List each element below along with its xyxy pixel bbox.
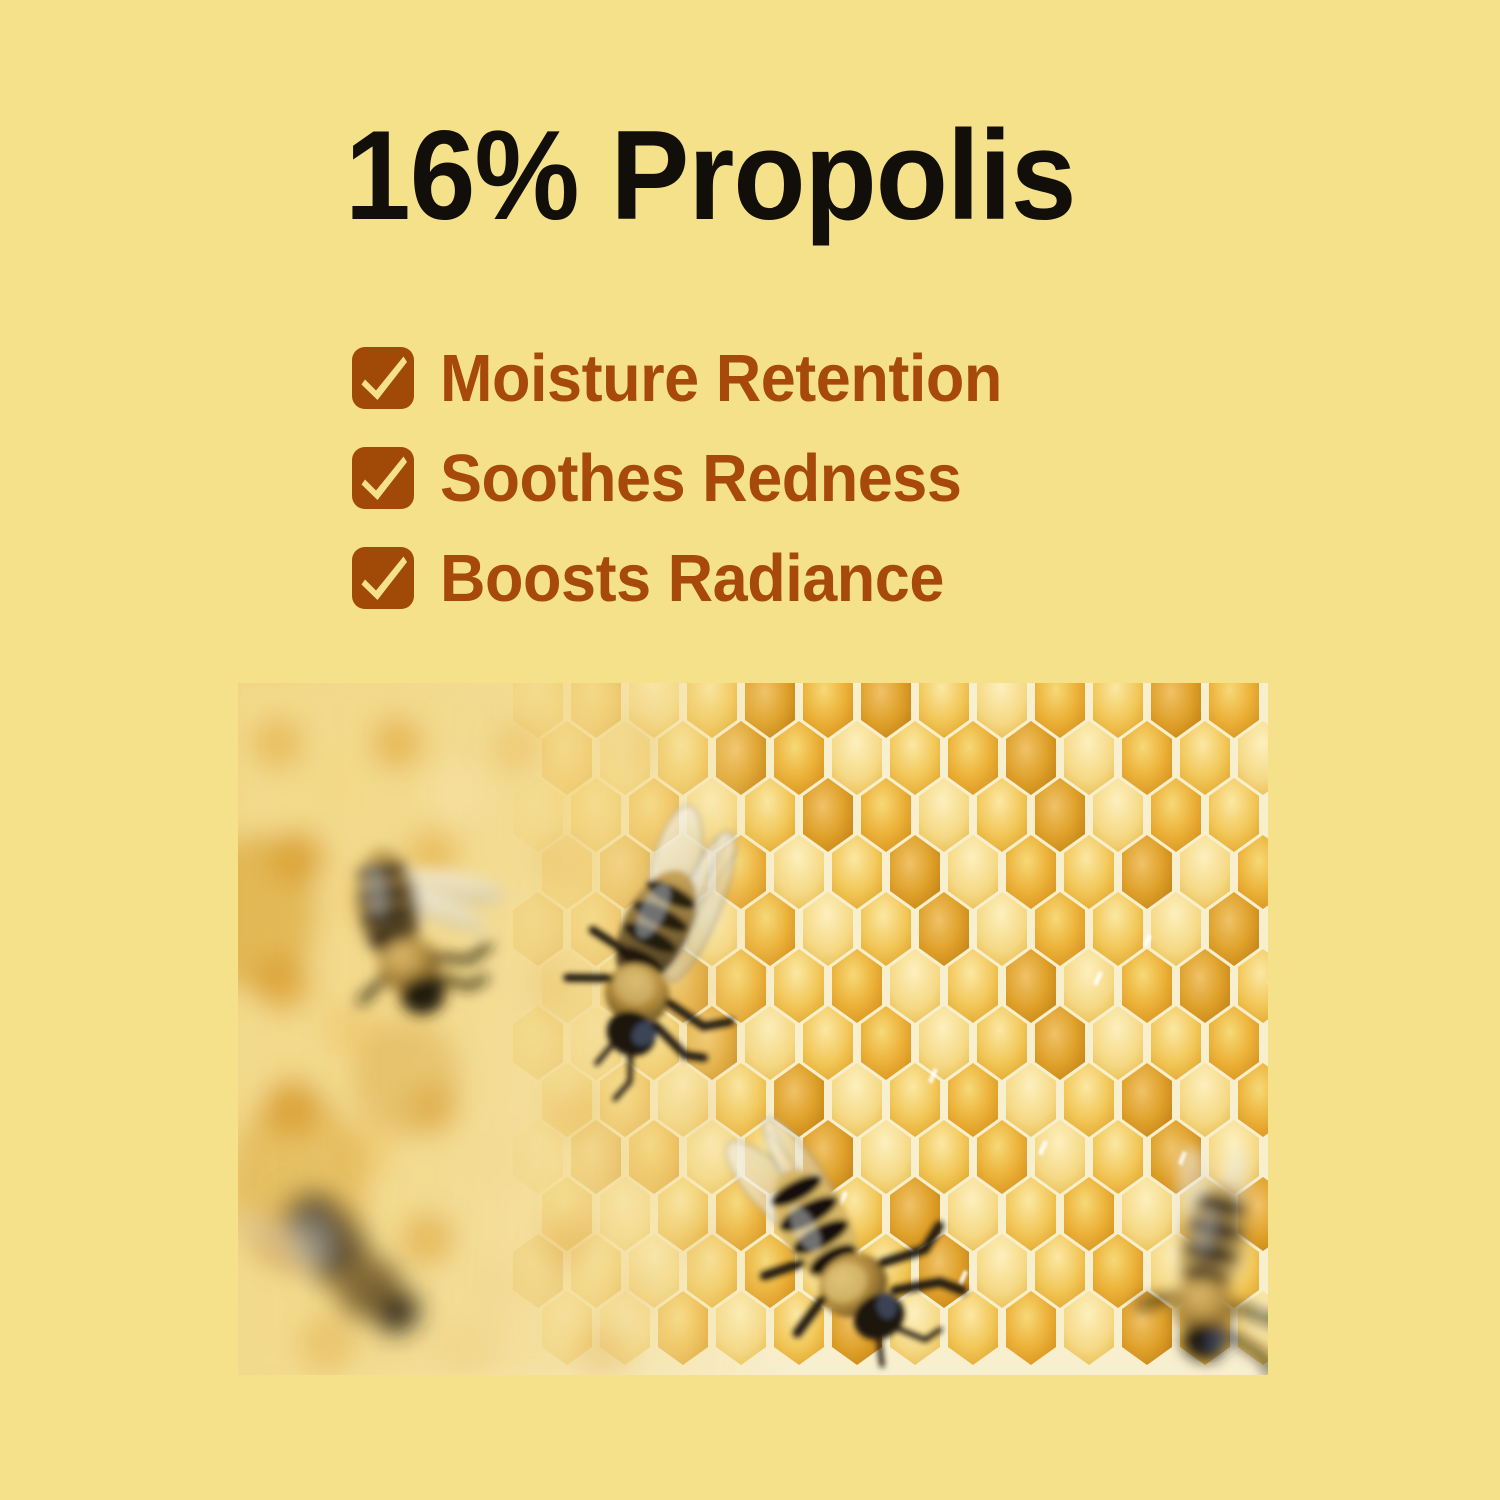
check-square-icon xyxy=(352,447,414,509)
benefit-label: Boosts Radiance xyxy=(440,545,944,612)
benefit-label: Soothes Redness xyxy=(440,445,961,512)
list-item: Boosts Radiance xyxy=(352,528,1252,628)
honeycomb-bees-photo xyxy=(238,683,1268,1375)
benefit-label: Moisture Retention xyxy=(440,345,1002,412)
check-square-icon xyxy=(352,547,414,609)
page-title: 16% Propolis xyxy=(345,112,1076,239)
infographic-panel: 16% Propolis Moisture Retention Soothes … xyxy=(0,0,1500,1500)
check-square-icon xyxy=(352,347,414,409)
benefit-list: Moisture Retention Soothes Redness Boost… xyxy=(352,328,1252,628)
list-item: Moisture Retention xyxy=(352,328,1252,428)
list-item: Soothes Redness xyxy=(352,428,1252,528)
